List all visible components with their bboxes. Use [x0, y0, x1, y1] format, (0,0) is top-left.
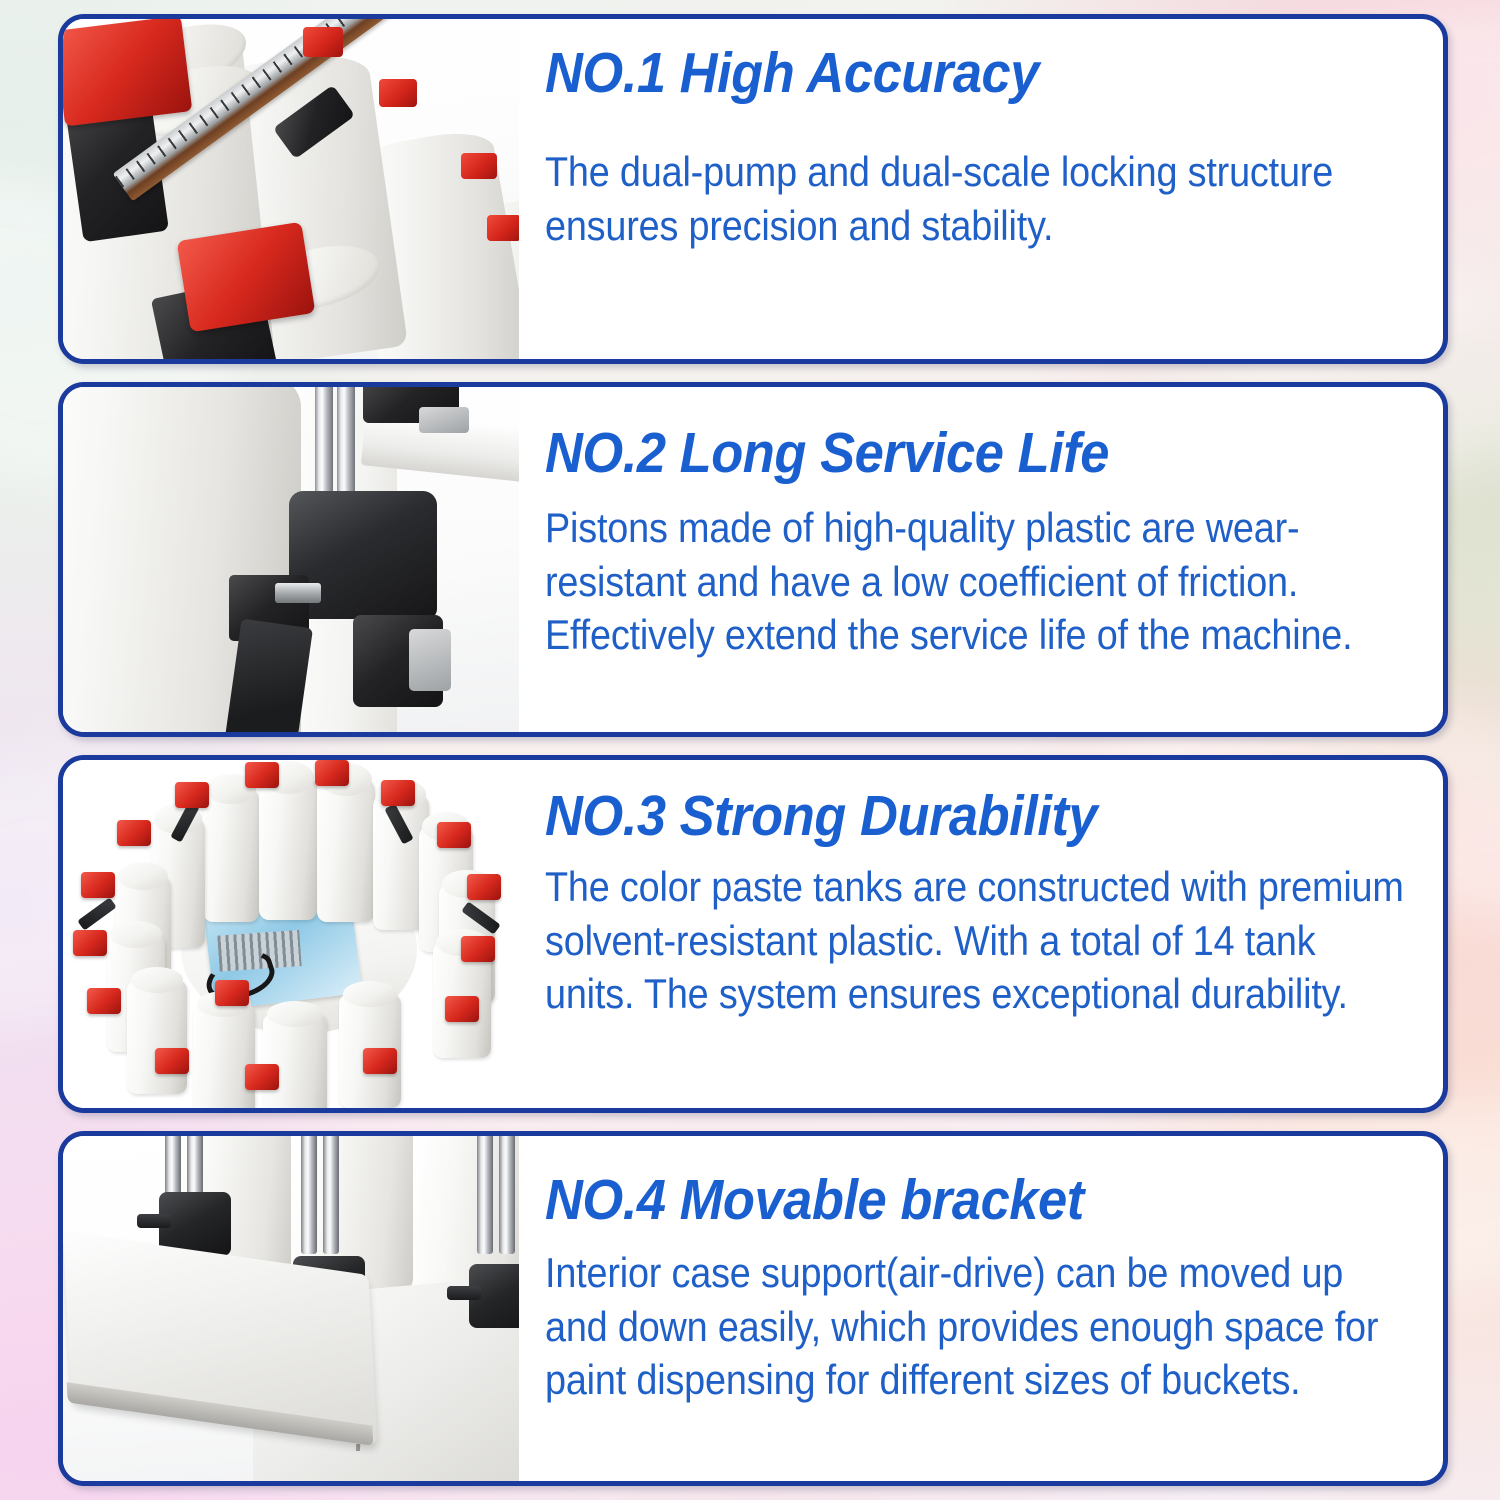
- feature-heading-no2: NO.2 Long Service Life: [545, 423, 1344, 483]
- feature-text-no1: NO.1 High Accuracy The dual-pump and dua…: [519, 19, 1443, 359]
- red-valve-knob-icon: [81, 872, 115, 898]
- chrome-rod-icon: [337, 387, 355, 503]
- paint-tank-icon: [263, 1008, 327, 1108]
- gray-fitting-icon: [419, 407, 469, 433]
- metal-fitting-icon: [275, 583, 321, 603]
- red-valve-knob-icon: [363, 1048, 397, 1074]
- red-valve-knob-icon: [445, 996, 479, 1022]
- feature-panel-no4: NO.4 Movable bracket Interior case suppo…: [58, 1131, 1448, 1486]
- paint-tank-icon: [193, 998, 255, 1108]
- feature-text-no3: NO.3 Strong Durability The color paste t…: [519, 760, 1443, 1108]
- red-valve-knob-icon: [117, 820, 151, 846]
- paint-tank-icon: [203, 782, 259, 922]
- red-valve-knob-icon: [175, 782, 209, 808]
- red-valve-knob-icon: [303, 27, 343, 57]
- red-valve-knob-icon: [87, 988, 121, 1014]
- red-valve-knob-icon: [245, 1064, 279, 1090]
- paint-tank-icon: [259, 770, 317, 920]
- feature-heading-no4: NO.4 Movable bracket: [545, 1170, 1344, 1230]
- chrome-rod-icon: [315, 387, 333, 503]
- feature-panel-list: NO.1 High Accuracy The dual-pump and dua…: [0, 0, 1500, 1500]
- black-arm-icon: [225, 619, 313, 732]
- feature-heading-no1: NO.1 High Accuracy: [545, 43, 1344, 103]
- red-valve-knob-icon: [245, 762, 279, 788]
- feature-panel-no1: NO.1 High Accuracy The dual-pump and dua…: [58, 14, 1448, 364]
- feature-body-no3: The color paste tanks are constructed wi…: [545, 860, 1412, 1020]
- feature-photo-no4: [63, 1136, 519, 1481]
- feature-body-no1: The dual-pump and dual-scale locking str…: [545, 145, 1412, 252]
- feature-panel-no2: NO.2 Long Service Life Pistons made of h…: [58, 382, 1448, 737]
- feature-body-no4: Interior case support(air-drive) can be …: [545, 1246, 1412, 1406]
- red-valve-knob-icon: [437, 822, 471, 848]
- feature-body-no2: Pistons made of high-quality plastic are…: [545, 501, 1412, 661]
- red-lock-handle-icon: [177, 222, 316, 333]
- feature-panel-no3: NO.3 Strong Durability The color paste t…: [58, 755, 1448, 1113]
- red-valve-knob-icon: [467, 874, 501, 900]
- red-valve-knob-icon: [461, 936, 495, 962]
- feature-text-no4: NO.4 Movable bracket Interior case suppo…: [519, 1136, 1443, 1481]
- red-valve-knob-icon: [381, 780, 415, 806]
- red-valve-knob-icon: [73, 930, 107, 956]
- feature-photo-no3: [63, 760, 519, 1108]
- red-valve-knob-icon: [315, 760, 349, 786]
- paint-tank-icon: [317, 772, 375, 922]
- red-valve-knob-icon: [487, 215, 519, 241]
- red-valve-knob-icon: [461, 153, 497, 179]
- paint-tank-icon: [127, 974, 187, 1094]
- black-clamp-icon: [469, 1264, 519, 1328]
- red-valve-knob-icon: [155, 1048, 189, 1074]
- red-valve-knob-icon: [379, 79, 417, 107]
- gray-fitting-icon: [409, 629, 451, 691]
- feature-photo-no1: [63, 19, 519, 359]
- chrome-rod-icon: [301, 1136, 343, 1254]
- red-lock-handle-icon: [63, 19, 192, 126]
- red-valve-knob-icon: [215, 980, 249, 1006]
- feature-heading-no3: NO.3 Strong Durability: [545, 786, 1344, 846]
- feature-text-no2: NO.2 Long Service Life Pistons made of h…: [519, 387, 1443, 732]
- chrome-rod-icon: [477, 1136, 519, 1254]
- feature-photo-no2: [63, 387, 519, 732]
